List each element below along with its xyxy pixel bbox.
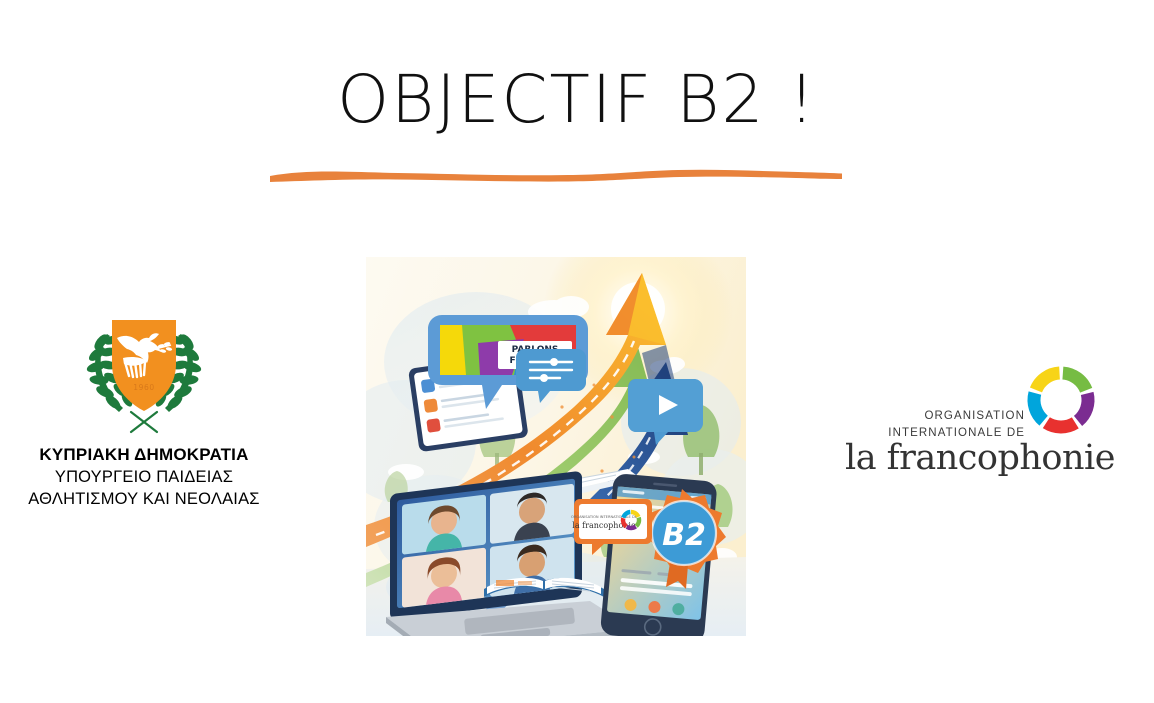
cyprus-republic-label: ΚΥΠΡΙΑΚΗ ΔΗΜΟΚΡΑΤΙΑ (22, 444, 266, 467)
french-learning-illustration: PARLONS FRANÇAIS (366, 257, 746, 636)
emblem-year-label: 1960 (133, 383, 155, 392)
page-title: OBJECTIF B2 ! (0, 62, 1154, 138)
cyprus-logo-text: ΚΥΠΡΙΑΚΗ ΔΗΜΟΚΡΑΤΙΑ ΥΠΟΥΡΓΕΙΟ ΠΑΙΔΕΙΑΣ Α… (22, 444, 266, 510)
oif-organisation-label: ORGANISATION INTERNATIONALE DE (845, 408, 1025, 441)
francophonie-logo: ORGANISATION INTERNATIONALE DE la franco… (845, 360, 1107, 472)
cyprus-ministry-logo: 1960 ΚΥΠΡΙΑΚΗ ΔΗΜΟΚΡΑΤΙΑ ΥΠΟΥΡΓΕΙΟ ΠΑΙΔΕ… (22, 312, 266, 510)
title-block: OBJECTIF B2 ! (0, 62, 1154, 138)
badge-level-label: B2 (662, 518, 706, 553)
oif-wordmark-label: la francophonie (845, 438, 1115, 478)
ministry-label-line1: ΥΠΟΥΡΓΕΙΟ ΠΑΙΔΕΙΑΣ (22, 467, 266, 489)
slide-canvas: OBJECTIF B2 ! (0, 0, 1154, 703)
cyprus-coat-of-arms-icon: 1960 (79, 312, 209, 438)
francophonie-ring-icon (1021, 360, 1101, 440)
card-sub-label: ORGANISATION INTERNATIONALE DE (571, 515, 638, 519)
title-underline-stroke (268, 162, 844, 184)
oif-label-line1: ORGANISATION (845, 408, 1025, 425)
ministry-label-line2: ΑΘΛΗΤΙΣΜΟΥ ΚΑΙ ΝΕΟΛΑΙΑΣ (22, 489, 266, 511)
